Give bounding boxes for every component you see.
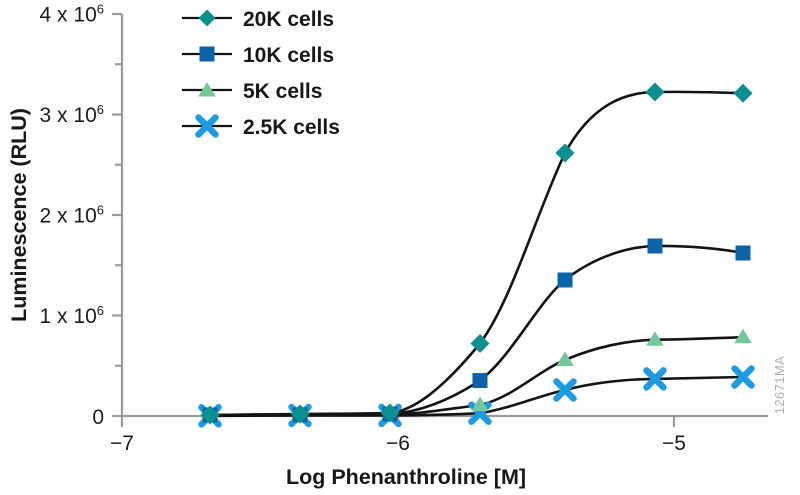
y-tick-label-2-exp: 6 — [97, 203, 104, 218]
marker-triangle — [734, 329, 752, 344]
series-markers-10k — [203, 239, 751, 423]
marker-square — [648, 239, 663, 254]
legend-label-5k: 5K cells — [243, 80, 322, 103]
y-tick-label-2: 2 x 106 — [40, 203, 104, 228]
y-tick-label-3: 3 x 106 — [40, 102, 104, 127]
figure-code-watermark: 12671MA — [772, 356, 787, 414]
y-tick-label-0: 0 — [92, 406, 104, 429]
y-major-ticks — [112, 14, 122, 416]
marker-diamond — [646, 83, 665, 102]
y-tick-label-4: 4 x 106 — [40, 2, 104, 27]
marker-square — [473, 373, 488, 388]
x-axis-title: Log Phenanthroline [M] — [286, 465, 526, 489]
legend-label-20k: 20K cells — [243, 8, 334, 31]
y-tick-label-4-exp: 6 — [97, 2, 104, 17]
line-chart-svg: 0 1 x 106 2 x 106 3 x 106 4 x 106 −7 −6 … — [0, 0, 800, 495]
legend-marker-diamond — [199, 10, 216, 27]
x-tick-labels: −7 −6 −5 — [110, 432, 686, 455]
legend-item-5k-cells[interactable]: 5K cells — [182, 80, 322, 103]
axis-group — [122, 14, 768, 416]
y-axis-title: Luminescence (RLU) — [7, 108, 31, 322]
y-tick-label-1: 1 x 106 — [40, 303, 104, 328]
y-tick-label-3-base: 3 x 10 — [40, 104, 97, 127]
x-tick-label-minus7: −7 — [110, 432, 134, 455]
y-tick-labels: 0 1 x 106 2 x 106 3 x 106 4 x 106 — [40, 2, 104, 430]
legend-item-20k-cells[interactable]: 20K cells — [182, 8, 334, 31]
marker-square — [558, 273, 573, 288]
legend-label-2.5k: 2.5K cells — [243, 116, 340, 139]
marker-diamond — [734, 84, 753, 103]
y-tick-label-3-exp: 6 — [97, 102, 104, 117]
marker-cross — [557, 382, 574, 399]
x-tick-label-minus5: −5 — [662, 432, 686, 455]
legend-item-10k-cells[interactable]: 10K cells — [182, 44, 334, 67]
x-tick-label-minus6: −6 — [386, 432, 410, 455]
series-line-20k — [210, 92, 743, 415]
legend-marker-square — [200, 47, 215, 62]
legend-item-2.5k-cells[interactable]: 2.5K cells — [182, 116, 340, 139]
chart-figure: 0 1 x 106 2 x 106 3 x 106 4 x 106 −7 −6 … — [0, 0, 800, 495]
chart-legend: 20K cells 10K cells 5K cells 2.5K ce — [182, 8, 340, 139]
y-tick-label-1-base: 1 x 10 — [40, 305, 97, 328]
y-tick-label-1-exp: 6 — [97, 303, 104, 318]
marker-square — [736, 246, 751, 261]
y-tick-label-2-base: 2 x 10 — [40, 205, 97, 228]
legend-label-10k: 10K cells — [243, 44, 334, 67]
marker-diamond — [556, 144, 575, 163]
y-tick-label-4-base: 4 x 10 — [40, 4, 97, 27]
